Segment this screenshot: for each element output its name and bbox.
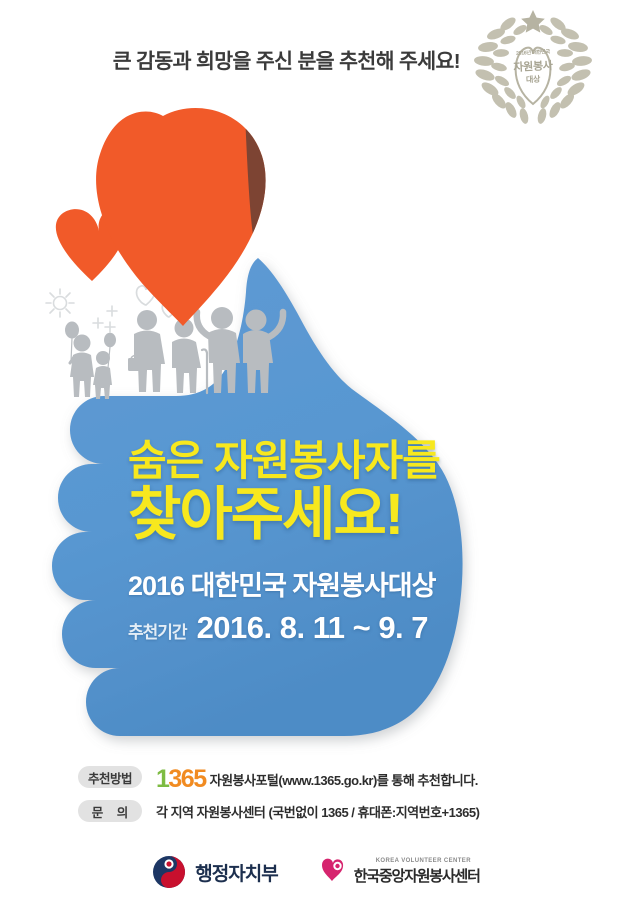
logo-kvc: KOREA VOLUNTEER CENTER 한국중앙자원봉사센터 [318,856,480,888]
sparkle-plus-icon [93,306,117,332]
pill-method: 추천방법 [78,766,142,788]
logo-kvc-english: KOREA VOLUNTEER CENTER [376,858,480,864]
sun-icon [46,289,74,317]
logo-kvc-text: KOREA VOLUNTEER CENTER 한국중앙자원봉사센터 [354,858,480,886]
logo-moi: 행정자치부 [152,855,277,889]
logo-moi-name: 행정자치부 [195,859,277,886]
logo-1365-digit-1: 1 [156,765,168,793]
main-line-1: 숨은 자원봉사자를 [128,438,548,483]
main-line-2: 찾아주세요! [128,485,548,545]
person-child [93,351,112,399]
kvc-heart-icon [318,856,348,888]
period-value: 2016. 8. 11 ~ 9. 7 [197,610,428,646]
pill-contact: 문 의 [78,800,142,822]
period-label: 추천기간 [128,618,187,643]
poster-root: 큰 감동과 희망을 주신 분을 추천해 주세요! [0,0,632,915]
poster-artwork [0,0,632,760]
info-section: 추천방법 1365 자원봉사포털(www.1365.go.kr)를 통해 추천합… [78,760,578,828]
info-method-text: 자원봉사포털(www.1365.go.kr)를 통해 추천합니다. [210,770,478,789]
person-boy [70,335,94,398]
handbag-icon [128,358,142,371]
award-title: 2016 대한민국 자원봉사대상 [128,564,548,603]
footer-logos: 행정자치부 KOREA VOLUNTEER CENTER 한국중앙자원봉사센터 [0,855,632,889]
info-row-contact: 문 의 각 지역 자원봉사센터 (국번없이 1365 / 휴대폰:지역번호+13… [78,794,578,828]
logo-kvc-korean: 한국중앙자원봉사센터 [354,865,480,886]
info-method-body: 1365 자원봉사포털(www.1365.go.kr)를 통해 추천합니다. [156,765,478,790]
cane-icon [202,349,207,393]
heart-large [96,108,266,326]
info-contact-text: 각 지역 자원봉사센터 (국번없이 1365 / 휴대폰:지역번호+1365) [156,802,479,821]
person-woman [128,310,165,392]
logo-1365: 1365 [156,767,206,792]
main-message: 숨은 자원봉사자를 찾아주세요! 2016 대한민국 자원봉사대상 추천기간 2… [128,438,548,646]
info-row-method: 추천방법 1365 자원봉사포털(www.1365.go.kr)를 통해 추천합… [78,760,578,794]
taegeuk-icon [152,855,186,889]
logo-1365-digit-365: 365 [168,765,205,793]
recommendation-period: 추천기간 2016. 8. 11 ~ 9. 7 [128,610,548,646]
